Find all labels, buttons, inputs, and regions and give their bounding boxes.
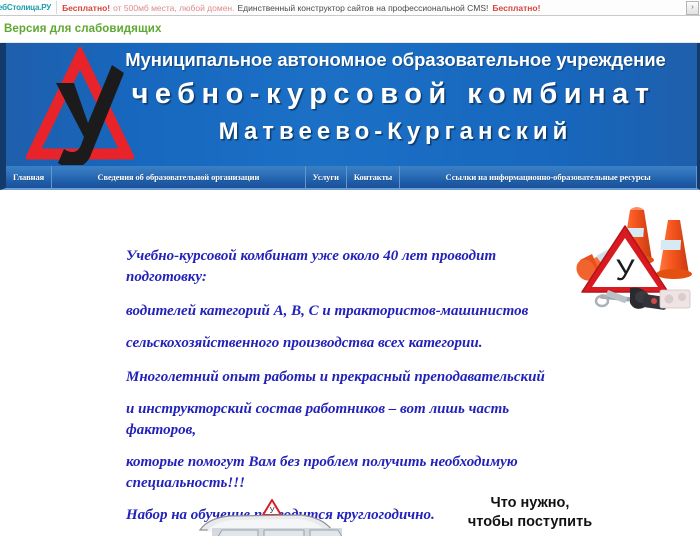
roof-learner-sign-icon: У [263, 500, 281, 515]
promo-description-text: Единственный конструктор сайтов на профе… [238, 3, 489, 13]
intro-paragraph-1: Учебно-курсовой комбинат уже около 40 ле… [126, 246, 551, 288]
intro-paragraph-6: которые помогут Вам без проблем получить… [126, 452, 551, 494]
nav-item-home[interactable]: Главная [6, 166, 52, 188]
promo-brand-link[interactable]: ебСтолица.РУ [0, 3, 51, 12]
promo-scroll-arrow-icon[interactable]: › [686, 1, 699, 15]
header-main-title: чебно-курсовой комбинат [94, 73, 693, 115]
site-header-banner: Муниципальное автономное образовательное… [0, 43, 700, 166]
promo-free-label: Бесплатно! [62, 3, 110, 13]
admission-heading-line-1: Что нужно, [420, 494, 640, 513]
intro-paragraph-3: сельскохозяйственного производства всех … [126, 333, 551, 354]
nav-item-contacts[interactable]: Контакты [347, 166, 400, 188]
promo-divider [56, 1, 57, 14]
nav-item-links[interactable]: Ссылки на информационно-образовательные … [400, 166, 697, 188]
header-title-block: Муниципальное автономное образовательное… [98, 47, 693, 149]
admission-heading-line-3: учиться: [420, 532, 640, 536]
intro-paragraph-2: водителей категорий А, В, С и тракторист… [126, 301, 551, 322]
car-keys [596, 288, 690, 310]
accessibility-version-link[interactable]: Версия для слабовидящих [4, 23, 161, 35]
nav-item-services[interactable]: Услуги [306, 166, 347, 188]
nav-item-info[interactable]: Сведения об образовательной организации [52, 166, 306, 188]
intro-text-block: Учебно-курсовой комбинат уже около 40 ле… [126, 246, 551, 536]
accessibility-strip: Версия для слабовидящих [0, 16, 700, 43]
promo-offer-text: от 500мб места, любой домен. [113, 3, 234, 13]
admission-heading-line-2: чтобы поступить [420, 513, 640, 532]
intro-paragraph-5: и инструкторский состав работников – вот… [126, 399, 551, 441]
page-content: Учебно-курсовой комбинат уже около 40 ле… [0, 190, 700, 536]
header-location-title: Матвеево-Курганский [98, 115, 693, 149]
upright-cone-right [656, 220, 692, 279]
main-navigation: Главная Сведения об образовательной орга… [0, 166, 700, 190]
driving-school-car-photo: У [160, 496, 410, 536]
promo-free-label-2: Бесплатно! [492, 3, 540, 13]
svg-text:У: У [615, 254, 635, 287]
traffic-cones-learner-sign-keys-photo: У [572, 198, 694, 310]
intro-paragraph-4: Многолетний опыт работы и прекрасный пре… [126, 367, 551, 388]
admission-heading: Что нужно, чтобы поступить учиться: [420, 494, 640, 536]
header-subtitle: Муниципальное автономное образовательное… [98, 47, 693, 73]
promo-banner: ебСтолица.РУ Бесплатно! от 500мб места, … [0, 0, 700, 16]
